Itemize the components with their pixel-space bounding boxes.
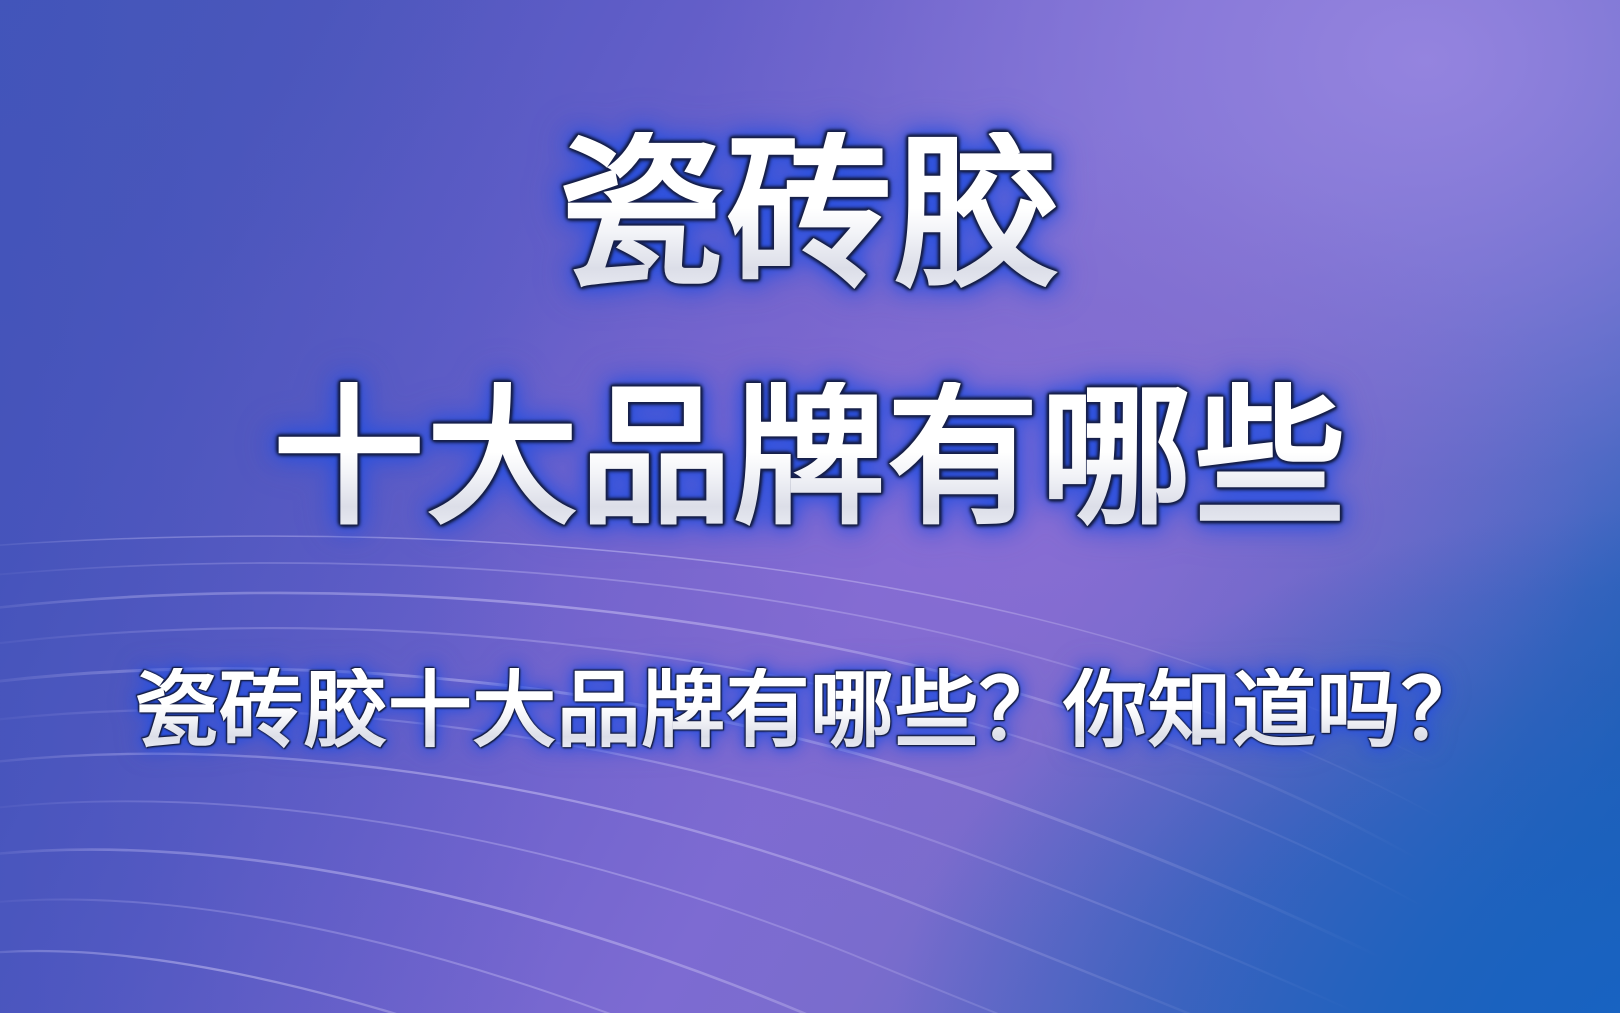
title-line-1: 瓷砖胶 xyxy=(0,132,1620,298)
subtitle: 瓷砖胶十大品牌有哪些？你知道吗？ xyxy=(0,668,1620,752)
title-card: 瓷砖胶 十大品牌有哪些 瓷砖胶十大品牌有哪些？你知道吗？ xyxy=(0,0,1620,1013)
text-content: 瓷砖胶 十大品牌有哪些 瓷砖胶十大品牌有哪些？你知道吗？ xyxy=(0,0,1620,1013)
title-line-2: 十大品牌有哪些 xyxy=(0,382,1620,534)
